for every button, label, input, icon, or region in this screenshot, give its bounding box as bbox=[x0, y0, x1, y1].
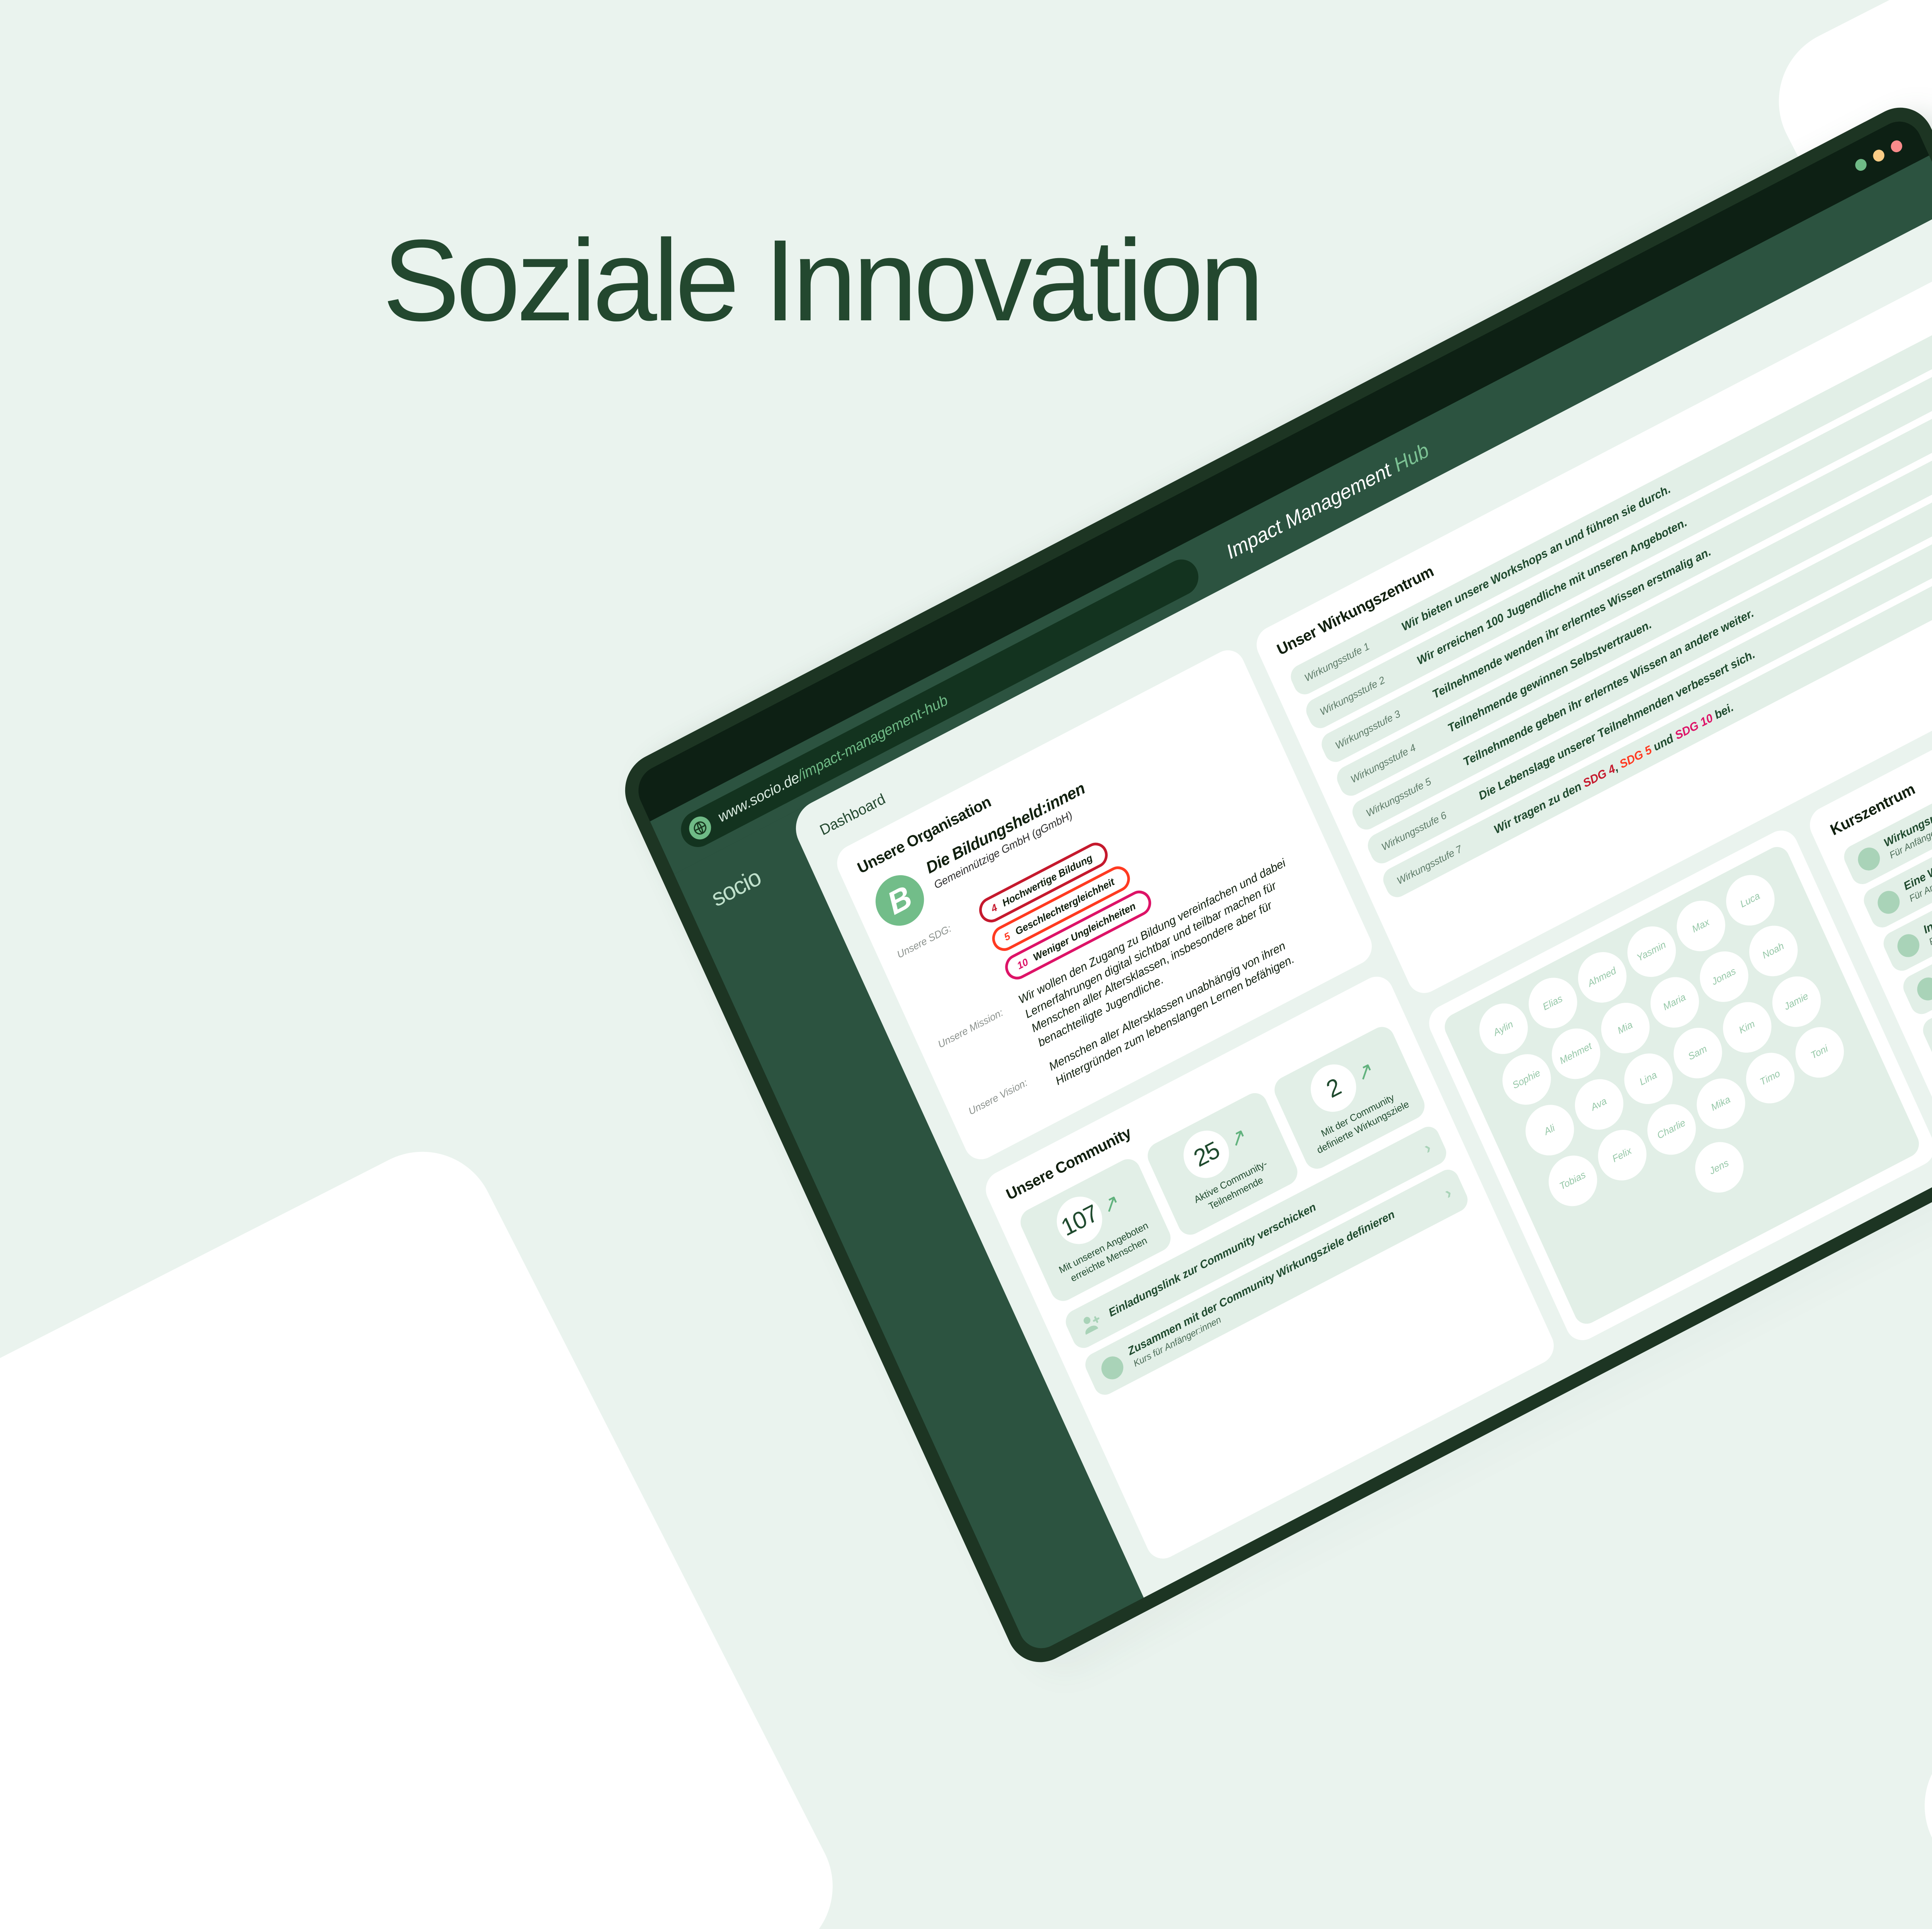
avatar[interactable]: Ali bbox=[1517, 1096, 1582, 1164]
sdg-number: 10 bbox=[1015, 956, 1030, 972]
background-shape-bottom-left bbox=[0, 1126, 858, 1929]
avatar[interactable]: Tobias bbox=[1541, 1147, 1605, 1215]
close-icon[interactable] bbox=[1889, 138, 1904, 154]
chevron-right-icon[interactable]: › bbox=[1442, 1184, 1454, 1202]
organisation-logo: B bbox=[867, 866, 932, 934]
avatar[interactable]: Felix bbox=[1590, 1121, 1654, 1189]
course-dot-icon bbox=[1098, 1352, 1127, 1383]
chevron-right-icon[interactable]: › bbox=[1422, 1139, 1434, 1157]
trend-up-icon: ↗ bbox=[1226, 1124, 1250, 1151]
minimize-icon[interactable] bbox=[1871, 148, 1886, 163]
avatar[interactable]: Kim bbox=[1715, 993, 1779, 1061]
person-add-icon bbox=[1078, 1309, 1105, 1337]
avatar[interactable]: Elias bbox=[1520, 969, 1585, 1037]
avatar[interactable]: Ahmed bbox=[1570, 943, 1634, 1011]
globe-icon bbox=[685, 813, 715, 844]
avatar[interactable]: Timo bbox=[1738, 1044, 1803, 1112]
page-title: Soziale Innovation bbox=[383, 222, 1260, 338]
avatar[interactable]: Mika bbox=[1689, 1070, 1753, 1138]
avatar[interactable]: Mia bbox=[1593, 994, 1658, 1062]
avatar[interactable]: Sam bbox=[1665, 1019, 1730, 1087]
avatar[interactable]: Jamie bbox=[1764, 968, 1829, 1036]
course-dot-icon bbox=[1913, 973, 1932, 1004]
avatar[interactable]: Jens bbox=[1687, 1133, 1752, 1201]
background-shape-bottom-right bbox=[1900, 1335, 1932, 1929]
avatar[interactable]: Jonas bbox=[1692, 942, 1756, 1010]
application-body: socio Dashboard Unsere Organisation B bbox=[674, 208, 1932, 1657]
avatar[interactable]: Lina bbox=[1616, 1045, 1680, 1113]
avatar[interactable]: Toni bbox=[1787, 1018, 1852, 1086]
maximize-icon[interactable] bbox=[1853, 157, 1868, 173]
avatar[interactable]: Ava bbox=[1567, 1070, 1631, 1138]
course-dot-icon bbox=[1894, 930, 1923, 961]
trend-up-icon: ↗ bbox=[1099, 1190, 1123, 1217]
avatar[interactable]: Max bbox=[1668, 892, 1733, 960]
sdg-number: 5 bbox=[1002, 930, 1012, 944]
course-dot-icon bbox=[1854, 844, 1884, 874]
avatar[interactable]: Yasmin bbox=[1619, 918, 1684, 986]
poster-canvas: Soziale Innovation bbox=[0, 0, 1932, 1929]
app-logo[interactable]: socio bbox=[707, 840, 810, 913]
avatar[interactable]: Sophie bbox=[1494, 1045, 1559, 1113]
avatar[interactable]: Aylin bbox=[1471, 995, 1536, 1063]
avatar[interactable]: Noah bbox=[1741, 917, 1806, 985]
window-controls[interactable] bbox=[1853, 138, 1904, 173]
avatar[interactable]: Mehmet bbox=[1544, 1020, 1608, 1088]
avatar[interactable]: Maria bbox=[1642, 968, 1707, 1036]
course-dot-icon bbox=[1874, 887, 1903, 918]
avatar[interactable]: Luca bbox=[1718, 866, 1782, 934]
avatar[interactable]: Charlie bbox=[1639, 1095, 1704, 1164]
sdg-number: 4 bbox=[989, 902, 999, 915]
trend-up-icon: ↗ bbox=[1353, 1058, 1378, 1085]
